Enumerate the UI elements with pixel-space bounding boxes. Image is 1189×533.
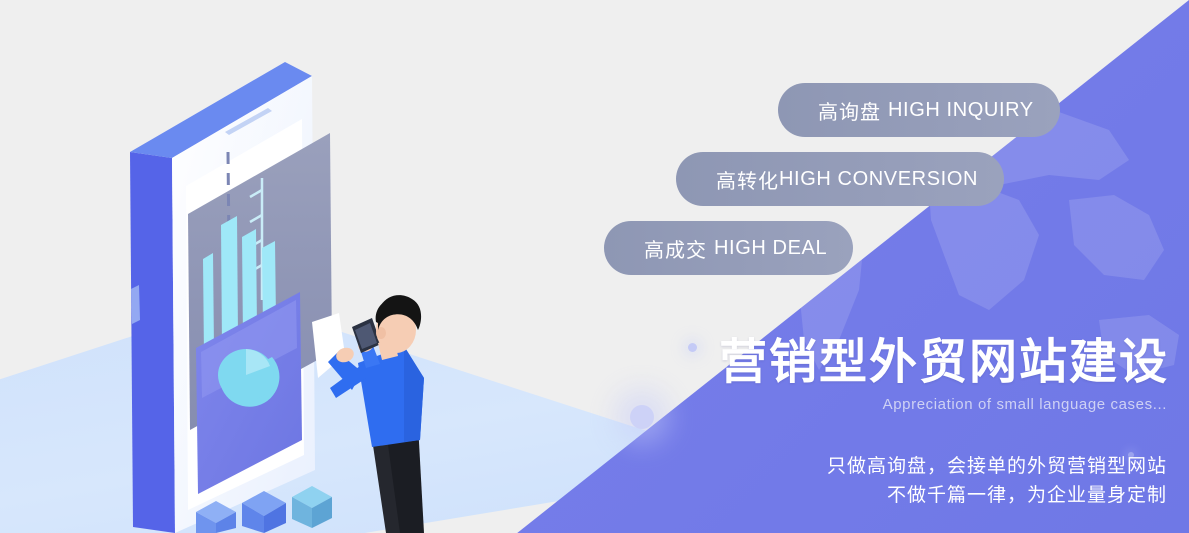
tag-label-cn: 高询盘	[818, 96, 881, 125]
marketing-banner: 高询盘 HIGH INQUIRY 高转化 HIGH CONVERSION 高成交…	[0, 0, 1189, 533]
tag-label-cn: 高转化	[716, 165, 779, 194]
tag-label-en: HIGH INQUIRY	[888, 99, 1034, 122]
tag-label-en: HIGH CONVERSION	[779, 168, 978, 191]
tag-high-deal[interactable]: 高成交 HIGH DEAL	[604, 221, 853, 275]
tag-label-en: HIGH DEAL	[714, 237, 827, 260]
page-title: 营销型外贸网站建设	[719, 337, 1169, 390]
person-illustration	[328, 295, 424, 533]
phone-side-button	[131, 285, 140, 324]
hero-illustration	[0, 0, 560, 533]
tagline-line-1: 只做高询盘，会接单的外贸营销型网站	[827, 452, 1167, 481]
tag-label-cn: 高成交	[644, 234, 707, 263]
tag-high-conversion[interactable]: 高转化 HIGH CONVERSION	[676, 152, 1004, 206]
phone-side	[130, 152, 175, 533]
tagline-line-2: 不做千篇一律，为企业量身定制	[827, 481, 1167, 510]
tagline-block: 只做高询盘，会接单的外贸营销型网站 不做千篇一律，为企业量身定制	[827, 452, 1167, 511]
tag-high-inquiry[interactable]: 高询盘 HIGH INQUIRY	[778, 83, 1060, 137]
page-subtitle: Appreciation of small language cases...	[883, 396, 1167, 413]
